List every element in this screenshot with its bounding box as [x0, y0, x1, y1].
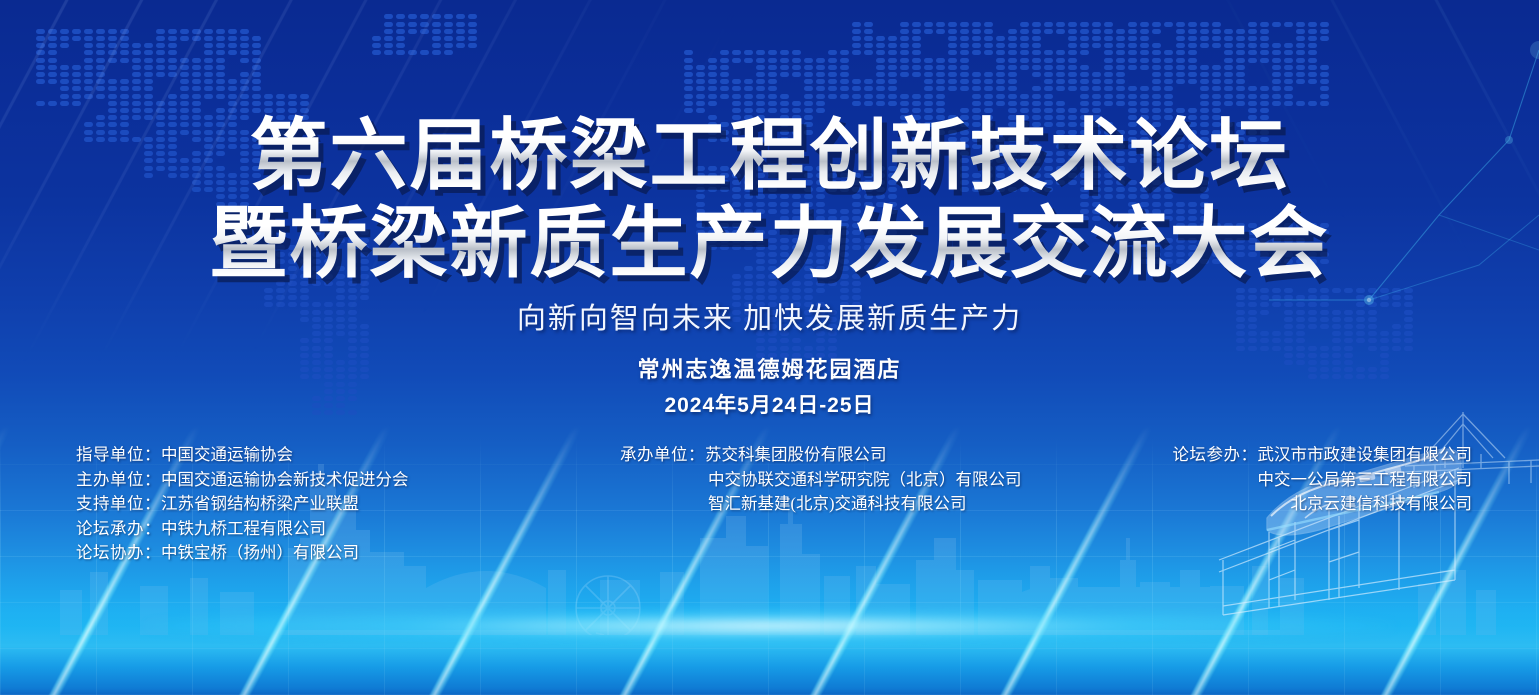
org-value: 苏交科集团股份有限公司 [705, 445, 887, 464]
title-line-1: 第六届桥梁工程创新技术论坛 [0, 112, 1539, 200]
org-value: 中铁宝桥（扬州）有限公司 [161, 543, 359, 562]
title-line-2: 暨桥梁新质生产力发展交流大会 [0, 200, 1539, 288]
venue-name: 常州志逸温德姆花园酒店 [0, 352, 1539, 384]
org-value: 中交协联交通科学研究院（北京）有限公司 [708, 470, 1022, 489]
org-value: 中交一公局第三工程有限公司 [1258, 470, 1473, 489]
organizations-block: 指导单位：中国交通运输协会主办单位：中国交通运输协会新技术促进分会支持单位：江苏… [0, 443, 1539, 573]
org-row: 中交一公局第三工程有限公司 [1173, 468, 1473, 493]
horizon-glow-icon [145, 609, 1395, 643]
org-label: 论坛承办： [76, 519, 161, 538]
venue-date: 2024年5月24日-25日 [0, 389, 1539, 419]
org-label: 论坛参办： [1173, 445, 1258, 464]
org-row: 主办单位：中国交通运输协会新技术促进分会 [76, 468, 409, 493]
org-row: 智汇新基建(北京)交通科技有限公司 [620, 492, 1022, 517]
org-value: 中铁九桥工程有限公司 [161, 519, 326, 538]
dotted-world-map-icon [0, 0, 1539, 695]
conference-banner: 第六届桥梁工程创新技术论坛 暨桥梁新质生产力发展交流大会 向新向智向未来 加快发… [0, 0, 1539, 695]
org-label: 论坛协办： [76, 543, 161, 562]
org-row: 论坛承办：中铁九桥工程有限公司 [76, 517, 409, 542]
org-label: 承办单位： [620, 445, 705, 464]
org-label: 主办单位： [76, 470, 161, 489]
org-value: 中国交通运输协会新技术促进分会 [161, 470, 409, 489]
org-row: 论坛协办：中铁宝桥（扬州）有限公司 [76, 541, 409, 566]
org-column-right: 论坛参办：武汉市市政建设集团有限公司中交一公局第三工程有限公司北京云建信科技有限… [1173, 443, 1473, 517]
org-column-left: 指导单位：中国交通运输协会主办单位：中国交通运输协会新技术促进分会支持单位：江苏… [76, 443, 409, 566]
org-row: 承办单位：苏交科集团股份有限公司 [620, 443, 1022, 468]
venue-block: 常州志逸温德姆花园酒店 2024年5月24日-25日 [0, 352, 1539, 419]
org-label: 支持单位： [76, 494, 161, 513]
org-value: 武汉市市政建设集团有限公司 [1258, 445, 1473, 464]
org-column-middle: 承办单位：苏交科集团股份有限公司中交协联交通科学研究院（北京）有限公司智汇新基建… [620, 443, 1022, 517]
org-row: 北京云建信科技有限公司 [1173, 492, 1473, 517]
org-row: 支持单位：江苏省钢结构桥梁产业联盟 [76, 492, 409, 517]
org-label: 指导单位： [76, 445, 161, 464]
org-value: 北京云建信科技有限公司 [1291, 494, 1473, 513]
org-row: 中交协联交通科学研究院（北京）有限公司 [620, 468, 1022, 493]
ferris-wheel-icon [576, 576, 640, 635]
org-value: 智汇新基建(北京)交通科技有限公司 [708, 494, 967, 513]
org-row: 指导单位：中国交通运输协会 [76, 443, 409, 468]
page-title: 第六届桥梁工程创新技术论坛 暨桥梁新质生产力发展交流大会 [0, 112, 1539, 288]
subtitle: 向新向智向未来 加快发展新质生产力 [0, 295, 1539, 337]
org-value: 江苏省钢结构桥梁产业联盟 [161, 494, 359, 513]
org-value: 中国交通运输协会 [161, 445, 293, 464]
org-row: 论坛参办：武汉市市政建设集团有限公司 [1173, 443, 1473, 468]
